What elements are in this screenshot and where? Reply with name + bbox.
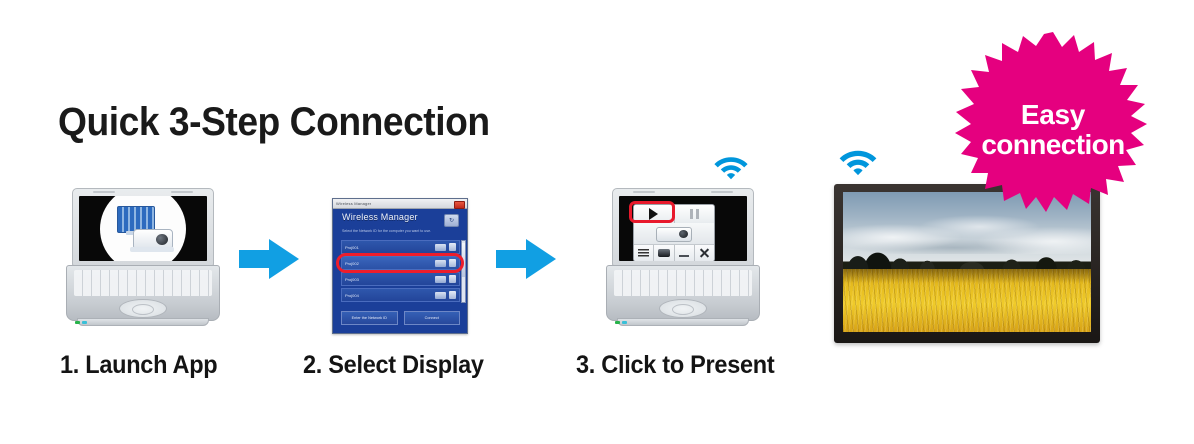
refresh-icon[interactable]: ↻ xyxy=(444,214,459,227)
arrow-head xyxy=(269,239,299,279)
minimize-icon xyxy=(679,255,689,257)
projector-lens-icon xyxy=(156,234,168,245)
capture-icon xyxy=(658,249,670,257)
laptop-touchpad xyxy=(659,299,707,318)
display-name: Proj004 xyxy=(345,293,435,298)
signal-icon xyxy=(435,276,446,283)
laptop-front-strip xyxy=(77,318,209,326)
arrow-step2-to-step3 xyxy=(496,239,556,279)
arrow-head xyxy=(526,239,556,279)
wifi-icon-laptop xyxy=(713,152,749,180)
laptop-lid xyxy=(612,188,754,266)
laptop-touchpad xyxy=(119,299,167,318)
lock-icon xyxy=(449,275,456,283)
signal-icon xyxy=(435,292,446,299)
wifi-icon-display xyxy=(838,145,878,176)
close-icon[interactable] xyxy=(454,201,465,209)
laptop-base xyxy=(606,265,760,321)
enter-network-id-button[interactable]: Enter the Network ID xyxy=(341,311,398,325)
laptop-front-strip xyxy=(617,318,749,326)
wireless-manager-dialog[interactable]: Wireless Manager Wireless Manager ↻ Sele… xyxy=(332,198,468,334)
launcher-tool-row xyxy=(634,244,714,261)
display-name: Proj003 xyxy=(345,277,435,282)
laptop-screen xyxy=(619,196,747,261)
list-icon xyxy=(638,249,649,258)
lock-icon xyxy=(449,243,456,251)
step-caption-2: 2. Select Display xyxy=(303,351,484,380)
pause-button[interactable] xyxy=(675,205,715,223)
capture-button[interactable] xyxy=(654,245,674,261)
play-button-highlight xyxy=(629,201,675,223)
status-led-green xyxy=(615,321,620,324)
close-icon xyxy=(699,248,709,258)
status-led-green xyxy=(75,321,80,324)
status-led-blue xyxy=(622,321,627,324)
dialog-description: Select the Network ID for the computer y… xyxy=(342,229,459,234)
laptop-keyboard xyxy=(74,270,212,296)
connect-button[interactable]: Connect xyxy=(404,311,461,325)
page-title: Quick 3-Step Connection xyxy=(58,100,490,145)
status-badge: Easy connection xyxy=(947,32,1159,228)
step-caption-3: 3. Click to Present xyxy=(576,351,774,380)
projector-base-icon xyxy=(130,247,174,252)
signal-icon xyxy=(435,244,446,251)
dialog-button-row: Enter the Network ID Connect xyxy=(341,311,460,325)
pause-icon xyxy=(690,209,693,219)
app-launcher-icon xyxy=(100,196,186,261)
dialog-app-title: Wireless Manager xyxy=(342,212,418,222)
list-item[interactable]: Proj001 xyxy=(341,240,460,254)
step-caption-1: 1. Launch App xyxy=(60,351,217,380)
list-item[interactable]: Proj003 xyxy=(341,272,460,286)
pause-icon xyxy=(696,209,699,219)
launcher-projector-area xyxy=(634,223,714,245)
dialog-titlebar: Wireless Manager xyxy=(333,199,467,209)
status-led-blue xyxy=(82,321,87,324)
list-scrollbar[interactable] xyxy=(461,240,466,303)
close-button[interactable] xyxy=(695,245,714,261)
photo-treeline xyxy=(843,251,1091,271)
list-item[interactable]: Proj004 xyxy=(341,288,460,302)
starburst-icon xyxy=(947,32,1159,228)
dialog-titlebar-text: Wireless Manager xyxy=(336,201,371,206)
laptop-base xyxy=(66,265,220,321)
laptop-step3 xyxy=(612,188,754,328)
laptop-step1 xyxy=(72,188,214,328)
laptop-screen xyxy=(79,196,207,261)
lock-icon xyxy=(449,291,456,299)
projector-icon xyxy=(656,227,692,242)
minimize-button[interactable] xyxy=(675,245,695,261)
laptop-lid xyxy=(72,188,214,266)
laptop-keyboard xyxy=(614,270,752,296)
arrow-step1-to-step2 xyxy=(239,239,299,279)
list-button[interactable] xyxy=(634,245,654,261)
selected-row-highlight xyxy=(336,253,464,273)
display-name: Proj001 xyxy=(345,245,435,250)
infographic-stage: Quick 3-Step Connection xyxy=(0,0,1194,444)
photo-field-shadow xyxy=(843,269,1091,283)
